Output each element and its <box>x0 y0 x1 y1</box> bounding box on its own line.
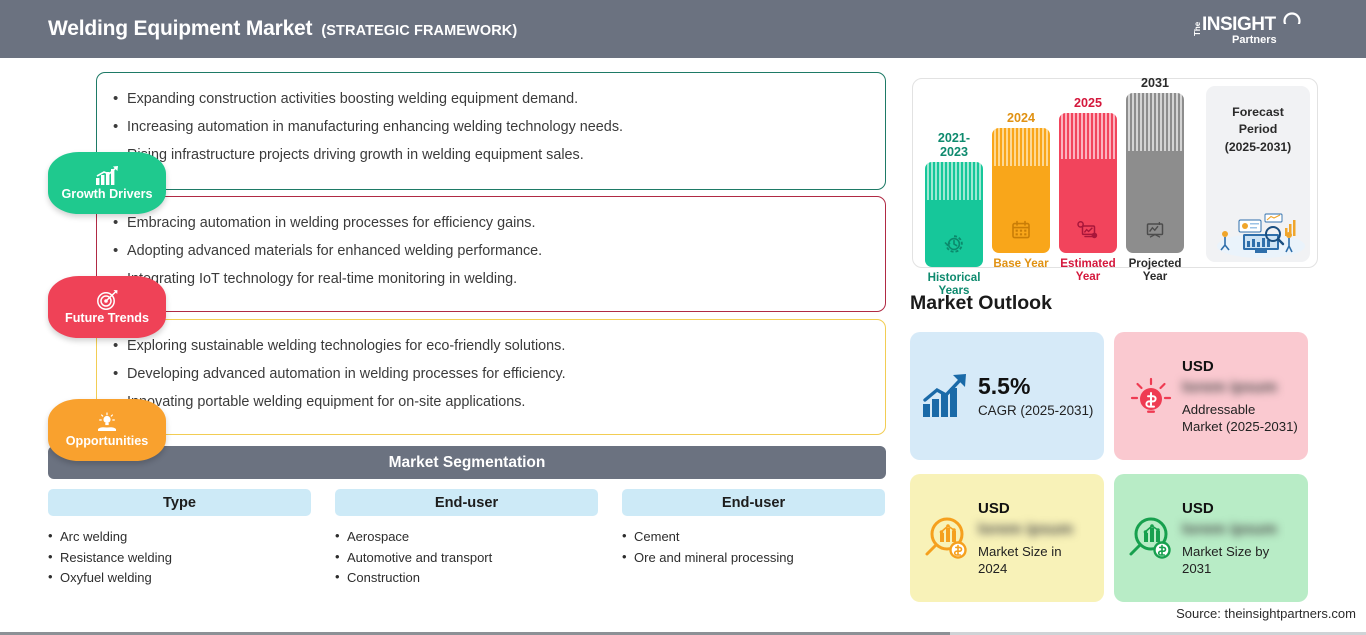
forecast-range: (2025-2031) <box>1206 139 1310 156</box>
bar-year-label: 2025 <box>1059 96 1117 110</box>
currency-label: USD <box>1182 499 1298 518</box>
clock-history-icon <box>925 233 983 255</box>
card-caption: Market Size in 2024 <box>978 543 1094 578</box>
pill-label: Opportunities <box>66 435 149 448</box>
cagr-value: 5.5% <box>978 373 1094 399</box>
market-segmentation-header: Market Segmentation <box>48 446 886 479</box>
projection-screen-icon <box>1126 219 1184 241</box>
list-item: Increasing automation in manufacturing e… <box>113 113 885 141</box>
segmentation-column: End-user Aerospace Automotive and transp… <box>335 489 598 589</box>
bar-year-label: 2031 <box>1126 76 1184 90</box>
bar-caption: Base Year <box>992 258 1050 271</box>
card-caption: Market Size by 2031 <box>1182 543 1298 578</box>
list-item: Exploring sustainable welding technologi… <box>113 332 885 360</box>
timeline-bar-base: 2024 <box>992 111 1050 271</box>
forecast-period-text: Forecast Period (2025-2031) <box>1206 86 1310 156</box>
list-item: Cement <box>622 527 885 548</box>
future-trends-bullets: Embracing automation in welding processe… <box>97 197 885 293</box>
forecast-gear-icon <box>1059 219 1117 241</box>
bar-year-label: 2021-2023 <box>925 131 983 159</box>
pill-opportunities[interactable]: Opportunities <box>48 399 166 461</box>
cagr-caption: CAGR (2025-2031) <box>978 402 1094 420</box>
header-title-group: Welding Equipment Market (STRATEGIC FRAM… <box>48 17 517 41</box>
target-dartboard-icon <box>94 289 120 311</box>
segmentation-columns: Type Arc welding Resistance welding Oxyf… <box>48 489 886 589</box>
right-column: 2021-2023 Historic <box>900 58 1366 635</box>
svg-text:Partners: Partners <box>1232 34 1277 46</box>
svg-text:The: The <box>1193 21 1202 36</box>
forecast-line-1: Forecast <box>1206 104 1310 121</box>
source-attribution: Source: theinsightpartners.com <box>1176 606 1356 621</box>
bar-chart-growth-icon <box>94 165 120 187</box>
data-analysis-illustration <box>1209 208 1307 258</box>
lightbulb-dollar-icon <box>1124 371 1174 421</box>
kpi-card-cagr: 5.5% CAGR (2025-2031) <box>910 332 1104 460</box>
timeline-bar-historical: 2021-2023 Historic <box>925 131 983 297</box>
bar-stripe-top <box>1059 113 1117 159</box>
segmentation-column: End-user Cement Ore and mineral processi… <box>622 489 885 589</box>
left-column: Expanding construction activities boosti… <box>0 58 900 635</box>
segmentation-title: Market Segmentation <box>389 454 546 472</box>
segmentation-column-list: Arc welding Resistance welding Oxyfuel w… <box>48 527 311 589</box>
list-item: Aerospace <box>335 527 598 548</box>
list-item: Developing advanced automation in weldin… <box>113 360 885 388</box>
infographic-page: Welding Equipment Market (STRATEGIC FRAM… <box>0 0 1366 635</box>
hand-lightbulb-icon <box>94 412 120 434</box>
list-item: Automotive and transport <box>335 548 598 569</box>
bar-caption: Projected Year <box>1126 258 1184 283</box>
pill-future-trends[interactable]: Future Trends <box>48 276 166 338</box>
list-item: Oxyfuel welding <box>48 568 311 589</box>
segmentation-column-list: Aerospace Automotive and transport Const… <box>335 527 598 589</box>
blurred-value: lorem ipsum <box>1182 520 1298 540</box>
magnifier-bar-dollar-icon <box>920 513 970 563</box>
segmentation-column-header: Type <box>48 489 311 516</box>
list-item: Expanding construction activities boosti… <box>113 85 885 113</box>
list-item: Resistance welding <box>48 548 311 569</box>
list-item: Ore and mineral processing <box>622 548 885 569</box>
blurred-value: lorem ipsum <box>1182 378 1298 398</box>
segmentation-column: Type Arc welding Resistance welding Oxyf… <box>48 489 311 589</box>
svg-text:INSIGHT: INSIGHT <box>1202 14 1276 35</box>
section-opportunities: Exploring sustainable welding technologi… <box>96 319 886 435</box>
segmentation-column-header: End-user <box>335 489 598 516</box>
pill-label: Future Trends <box>65 312 149 325</box>
section-future-trends: Embracing automation in welding processe… <box>96 196 886 312</box>
magnifier-bar-dollar-icon <box>1124 513 1174 563</box>
pill-label: Growth Drivers <box>62 188 153 201</box>
currency-label: USD <box>1182 357 1298 376</box>
page-header: Welding Equipment Market (STRATEGIC FRAM… <box>0 0 1366 58</box>
market-timeline-chart: 2021-2023 Historic <box>912 78 1318 268</box>
growth-drivers-bullets: Expanding construction activities boosti… <box>97 73 885 169</box>
timeline-bar-estimated: 2025 <box>1059 96 1117 283</box>
list-item: Adopting advanced materials for enhanced… <box>113 237 885 265</box>
forecast-line-2: Period <box>1206 121 1310 138</box>
list-item: Integrating IoT technology for real-time… <box>113 265 885 293</box>
pill-growth-drivers[interactable]: Growth Drivers <box>48 152 166 214</box>
timeline-bar-projected: 2031 Projected Yea <box>1126 76 1184 283</box>
bar-stripe-top <box>925 162 983 200</box>
forecast-period-panel: Forecast Period (2025-2031) <box>1206 86 1310 262</box>
currency-label: USD <box>978 499 1094 518</box>
opportunities-bullets: Exploring sustainable welding technologi… <box>97 320 885 416</box>
calendar-icon <box>992 219 1050 241</box>
list-item: Rising infrastructure projects driving g… <box>113 141 885 169</box>
bar-stripe-top <box>992 128 1050 166</box>
list-item: Embracing automation in welding processe… <box>113 209 885 237</box>
bar-chart-arrow-icon <box>920 371 970 421</box>
page-subtitle: (STRATEGIC FRAMEWORK) <box>321 23 517 39</box>
page-title: Welding Equipment Market <box>48 17 312 41</box>
kpi-card-market-size-2031: USD lorem ipsum Market Size by 2031 <box>1114 474 1308 602</box>
card-caption: Addressable Market (2025-2031) <box>1182 401 1298 436</box>
list-item: Construction <box>335 568 598 589</box>
bar-stripe-top <box>1126 93 1184 151</box>
timeline-bars: 2021-2023 Historic <box>925 87 1195 263</box>
kpi-card-addressable-market: USD lorem ipsum Addressable Market (2025… <box>1114 332 1308 460</box>
market-outlook-title: Market Outlook <box>910 292 1052 315</box>
list-item: Innovating portable welding equipment fo… <box>113 388 885 416</box>
list-item: Arc welding <box>48 527 311 548</box>
kpi-card-market-size-2024: USD lorem ipsum Market Size in 2024 <box>910 474 1104 602</box>
bar-year-label: 2024 <box>992 111 1050 125</box>
bar-caption: Estimated Year <box>1059 258 1117 283</box>
segmentation-column-list: Cement Ore and mineral processing <box>622 527 885 568</box>
segmentation-column-header: End-user <box>622 489 885 516</box>
blurred-value: lorem ipsum <box>978 520 1094 540</box>
section-growth-drivers: Expanding construction activities boosti… <box>96 72 886 190</box>
insight-partners-logo: The INSIGHT Partners <box>1188 10 1308 50</box>
